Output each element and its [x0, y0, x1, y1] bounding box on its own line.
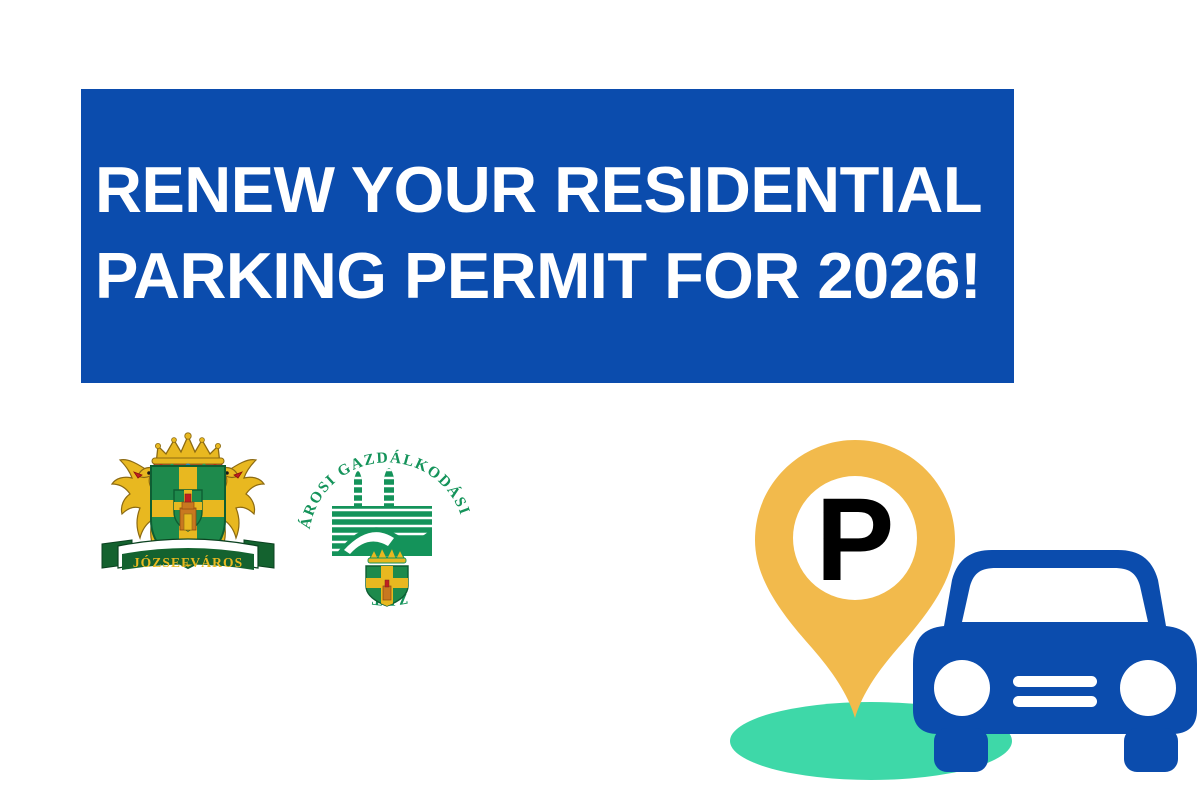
company-logo-icon: JÓZSEFVÁROSI GAZDÁLKODÁSI KÖZPONT ZRT. [292, 428, 482, 608]
headline-banner: RENEW YOUR RESIDENTIAL PARKING PERMIT FO… [81, 89, 1014, 383]
crest-icon: JÓZSEFVÁROS [88, 428, 288, 588]
crest-ribbon-label: JÓZSEFVÁROS [133, 555, 243, 570]
jozsefvaros-crest-logo: JÓZSEFVÁROS [88, 428, 288, 588]
car-headlight-right [1120, 660, 1176, 716]
car-headlight-left [934, 660, 990, 716]
car-grille-bar-top [1013, 676, 1097, 687]
poster-canvas: RENEW YOUR RESIDENTIAL PARKING PERMIT FO… [0, 0, 1200, 800]
car-wheel-right [1124, 728, 1178, 772]
jgk-company-logo: JÓZSEFVÁROSI GAZDÁLKODÁSI KÖZPONT ZRT. [292, 428, 482, 608]
parking-illustration: P [700, 420, 1200, 800]
car-grille-bar-bottom [1013, 696, 1097, 707]
car-wheel-left [934, 728, 988, 772]
logo-row: JÓZSEFVÁROS [80, 428, 500, 608]
parking-scene-icon: P [700, 420, 1200, 800]
pin-letter-p: P [816, 474, 895, 606]
crest-ribbon: JÓZSEFVÁROS [102, 539, 274, 570]
headline-text: RENEW YOUR RESIDENTIAL PARKING PERMIT FO… [95, 147, 1010, 319]
car-icon [913, 550, 1197, 772]
